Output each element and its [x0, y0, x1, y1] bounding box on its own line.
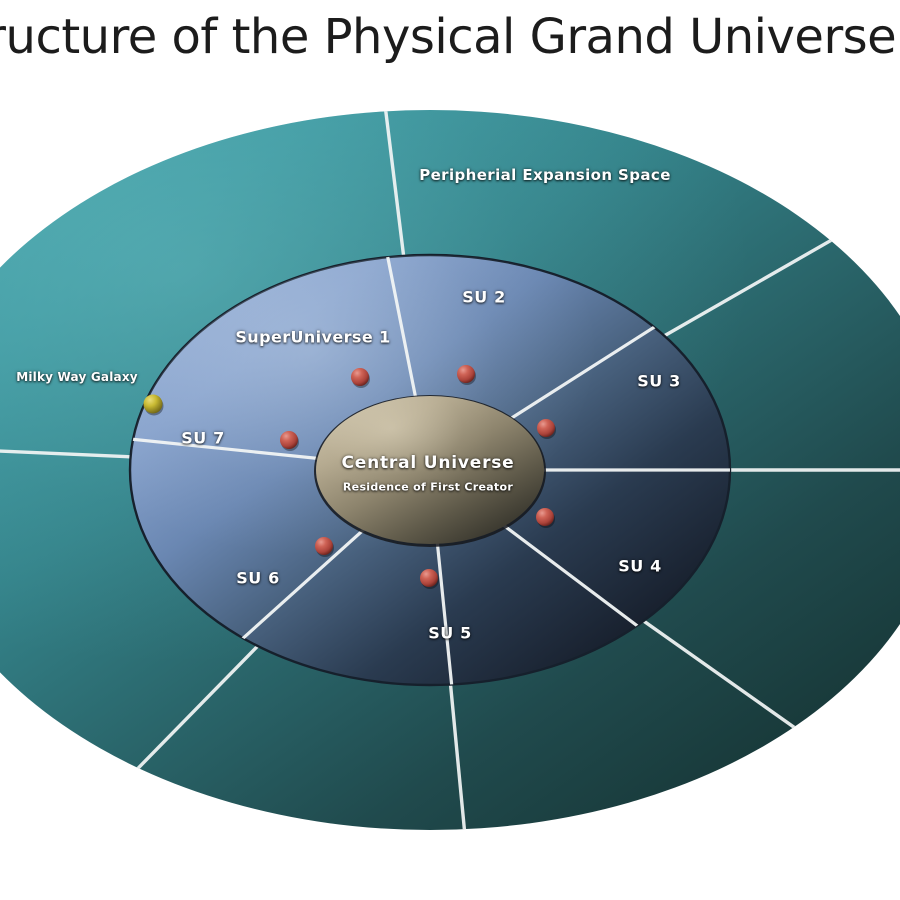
grand-universe-diagram: Peripherial Expansion Space SuperUnivers…	[0, 88, 900, 900]
title-bar: Structure of the Physical Grand Universe	[0, 0, 900, 88]
diagram-page: Structure of the Physical Grand Universe	[0, 0, 900, 900]
page-title: Structure of the Physical Grand Universe	[0, 9, 896, 65]
central-universe-ellipse	[314, 395, 546, 547]
diagram-canvas	[0, 88, 900, 900]
